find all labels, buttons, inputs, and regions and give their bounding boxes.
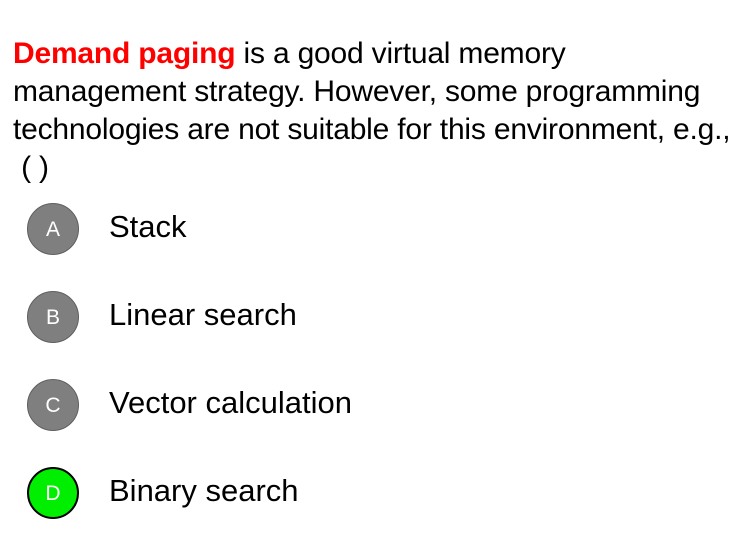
option-label-a: Stack bbox=[109, 207, 187, 247]
quiz-slide: Demand paging is a good virtual memory m… bbox=[0, 0, 743, 529]
option-row-a[interactable]: A Stack bbox=[0, 196, 743, 284]
option-bullet-d[interactable]: D bbox=[27, 467, 79, 519]
option-label-d: Binary search bbox=[109, 471, 299, 511]
option-letter-c: C bbox=[45, 395, 60, 416]
option-row-b[interactable]: B Linear search bbox=[0, 284, 743, 372]
option-bullet-a[interactable]: A bbox=[27, 203, 79, 255]
option-letter-a: A bbox=[46, 219, 60, 240]
option-bullet-b[interactable]: B bbox=[27, 291, 79, 343]
question-blank: ( ) bbox=[13, 151, 49, 184]
option-letter-d: D bbox=[45, 483, 60, 504]
option-letter-b: B bbox=[46, 307, 60, 328]
option-row-c[interactable]: C Vector calculation bbox=[0, 372, 743, 460]
option-row-d[interactable]: D Binary search bbox=[0, 460, 743, 548]
answer-options-list: A Stack B Linear search C Vector calcula… bbox=[0, 196, 743, 548]
question-text: Demand paging is a good virtual memory m… bbox=[13, 35, 735, 187]
option-label-b: Linear search bbox=[109, 295, 297, 335]
option-bullet-c[interactable]: C bbox=[27, 379, 79, 431]
question-highlight: Demand paging bbox=[13, 37, 235, 70]
option-label-c: Vector calculation bbox=[109, 383, 352, 423]
